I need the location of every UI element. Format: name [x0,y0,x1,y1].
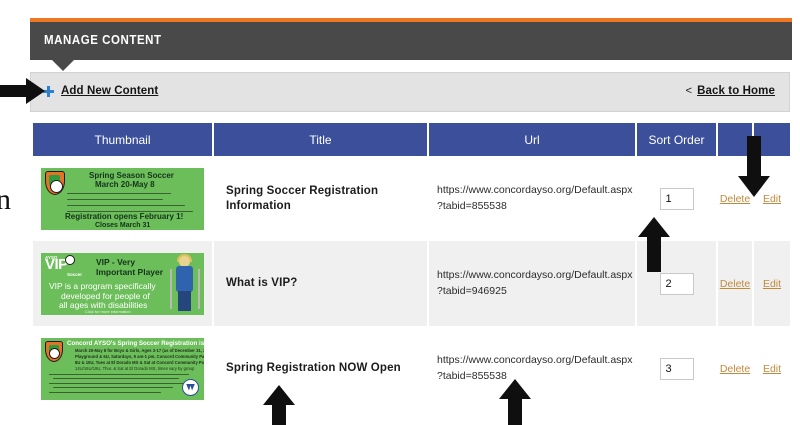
manage-content-module: MANAGE CONTENT [30,18,792,60]
url-line-2: ?tabid=946925 [437,285,507,297]
arrow-add-new-content [0,76,46,106]
back-to-home-label[interactable]: Back to Home [697,85,775,97]
thumb3-bullet-line-1 [49,374,189,376]
thumb2-body-4: Click for more information [85,310,131,314]
sort-order-input[interactable] [660,358,694,380]
thumb3-sub-1: March 20-May 8 for Boys & Girls, Ages 3-… [75,349,204,353]
crutch-left-icon [170,269,172,309]
cell-delete: Delete [718,326,754,411]
chevron-left-icon: < [686,85,692,97]
content-toolbar: Add New Content < Back to Home [30,72,790,112]
column-header-thumbnail[interactable]: Thumbnail [33,123,214,156]
thumb2-heading-1: VIP - Very [96,258,135,267]
module-notch-triangle [52,60,74,71]
sort-order-input[interactable] [660,273,694,295]
thumb3-heading: Concord AYSO's Spring Soccer Registratio… [67,341,204,347]
soccer-ball-icon [50,180,63,193]
vip-logo-subtext: Soccer [67,272,82,277]
cell-edit: Edit [754,241,790,326]
thumb3-bullet-line-3 [49,383,193,385]
url-line-2: ?tabid=855538 [437,370,507,382]
crutch-right-icon [198,269,200,309]
cell-title: What is VIP? [214,241,429,326]
cell-title: Spring Soccer Registration Information [214,156,429,241]
cell-thumbnail: Concord AYSO's Spring Soccer Registratio… [33,326,214,411]
cell-thumbnail: AYSO VIP Soccer VIP - Very Important Pla… [33,241,214,326]
soccer-ball-icon [65,255,75,265]
player-body [176,266,193,292]
table-row: Spring Season Soccer March 20-May 8 Regi… [33,156,790,241]
edge-text-artifact: n [0,183,11,217]
arrow-edit-column [737,136,771,198]
thumb3-sub-4: 14U/16U/19U, Thur. & Sat at El Dorado MS… [75,367,194,371]
thumb3-bullet-line-4 [53,387,173,389]
content-title-text: Spring Soccer Registration Information [226,184,427,214]
url-line-1: https://www.concordayso.org/Default.aspx [437,184,633,196]
thumb1-footer-2: Closes March 31 [95,222,150,229]
add-new-content-button[interactable]: Add New Content [43,85,158,97]
thumb3-sub-3: 8U & 10U, Tues at El Dorado MS & Sat at … [75,361,204,365]
content-title-text: Spring Registration NOW Open [226,361,401,376]
delete-link[interactable]: Delete [720,363,750,375]
cell-url: https://www.concordayso.org/Default.aspx… [429,241,637,326]
page-title: MANAGE CONTENT [44,33,162,47]
content-url-text: https://www.concordayso.org/Default.aspx… [437,183,633,213]
screenshot-root: n MANAGE CONTENT Add New Content < Back … [0,0,800,425]
content-table: Thumbnail Title Url Sort Order Spring Se… [33,123,790,411]
thumb1-footer-1: Registration opens February 1! [65,213,183,221]
thumbnail-image-spring-season-soccer[interactable]: Spring Season Soccer March 20-May 8 Regi… [41,168,204,230]
edit-link[interactable]: Edit [763,278,781,290]
column-header-url[interactable]: Url [429,123,637,156]
module-header-bar: MANAGE CONTENT [30,22,792,60]
thumb1-heading-1: Spring Season Soccer [89,172,174,180]
arrow-title-cell [262,385,296,425]
column-header-sort-order[interactable]: Sort Order [637,123,718,156]
table-header-row: Thumbnail Title Url Sort Order [33,123,790,156]
delete-link[interactable]: Delete [720,278,750,290]
content-url-text: https://www.concordayso.org/Default.aspx… [437,353,633,383]
thumb2-body-2: developed for people of [61,292,150,301]
thumbnail-image-vip[interactable]: AYSO VIP Soccer VIP - Very Important Pla… [41,253,204,315]
cell-delete: Delete [718,241,754,326]
url-line-2: ?tabid=855538 [437,200,507,212]
content-url-text: https://www.concordayso.org/Default.aspx… [437,268,633,298]
thumb1-bullet-line-2 [67,199,163,201]
soccer-ball-icon [49,348,60,359]
cell-url: https://www.concordayso.org/Default.aspx… [429,326,637,411]
thumb1-heading-2: March 20-May 8 [95,181,155,189]
url-line-1: https://www.concordayso.org/Default.aspx [437,269,633,281]
sort-order-input[interactable] [660,188,694,210]
thumb2-body-1: VIP is a program specifically [49,282,156,291]
player-head [179,256,190,267]
back-to-home-link[interactable]: < Back to Home [686,85,775,97]
add-new-content-label[interactable]: Add New Content [61,85,158,97]
content-title-text: What is VIP? [226,276,297,291]
thumb2-heading-2: Important Player [96,268,163,277]
table-row: Concord AYSO's Spring Soccer Registratio… [33,326,790,411]
cell-thumbnail: Spring Season Soccer March 20-May 8 Regi… [33,156,214,241]
thumb2-body-3: all ages with disabilities [59,301,147,310]
cell-title: Spring Registration NOW Open [214,326,429,411]
thumb3-sub-2: Playground & 6U, Saturdays, 9 am-1 pm, C… [75,355,204,359]
arrow-url-cell [498,379,532,425]
player-legs [178,291,191,311]
thumbnail-image-registration-now-open[interactable]: Concord AYSO's Spring Soccer Registratio… [41,338,204,400]
table-row: AYSO VIP Soccer VIP - Very Important Pla… [33,241,790,326]
cell-edit: Edit [754,326,790,411]
url-line-1: https://www.concordayso.org/Default.aspx [437,354,633,366]
thumb3-bullet-line-2 [53,378,179,380]
cell-url: https://www.concordayso.org/Default.aspx… [429,156,637,241]
cell-sort-order [637,326,718,411]
column-header-title[interactable]: Title [214,123,429,156]
edit-link[interactable]: Edit [763,363,781,375]
vip-player-photo [170,255,200,313]
arrow-sort-order-input [637,217,671,273]
thumb1-bullet-line-1 [67,193,171,195]
thumb1-bullet-line-3 [67,205,185,207]
thumb3-bullet-line-5 [49,392,161,394]
ayso-seal-icon [182,379,199,396]
